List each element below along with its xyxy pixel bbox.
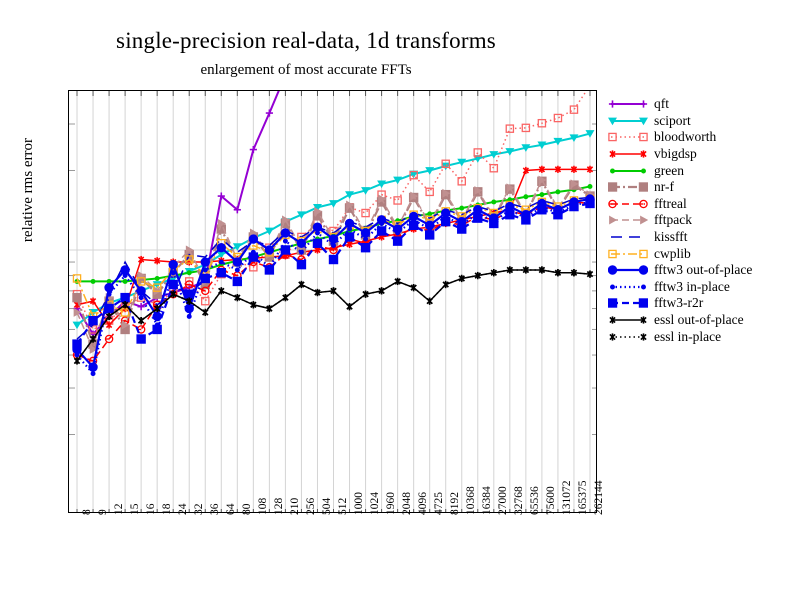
x-tick-label: 9 xyxy=(97,509,109,515)
x-tick-label: 504 xyxy=(321,498,333,515)
x-tick-label: 8 xyxy=(81,509,93,515)
data-series-layer xyxy=(69,91,597,513)
series-sciport xyxy=(73,131,593,329)
legend-swatch-icon xyxy=(608,179,648,195)
legend-label: fftpack xyxy=(654,212,692,228)
legend-item-essl-in-place[interactable]: essl in-place xyxy=(608,328,790,345)
x-tick-label: 1000 xyxy=(353,492,365,515)
legend-item-nr-f[interactable]: nr-f xyxy=(608,179,790,196)
x-tick-label: 24 xyxy=(177,504,189,516)
legend-item-green[interactable]: green xyxy=(608,162,790,179)
legend-item-qft[interactable]: qft xyxy=(608,96,790,113)
legend-label: sciport xyxy=(654,113,691,129)
series-fftw3-out-of-place xyxy=(73,195,594,372)
legend-swatch-icon xyxy=(608,279,648,295)
x-tick-label: 64 xyxy=(225,504,237,516)
legend-label: cwplib xyxy=(654,246,691,262)
legend-label: fftw3 in-place xyxy=(654,279,730,295)
x-tick-label: 2048 xyxy=(401,492,413,515)
x-tick-label: 10368 xyxy=(465,486,477,515)
legend-swatch-icon xyxy=(608,163,648,179)
legend-swatch-icon xyxy=(608,312,648,328)
x-tick-label: 16 xyxy=(145,504,157,516)
legend-swatch-icon xyxy=(608,212,648,228)
x-tick-label: 32768 xyxy=(513,486,525,515)
legend-swatch-icon xyxy=(608,229,648,245)
x-tick-label: 165375 xyxy=(577,481,589,516)
legend: qftsciportbloodworthvbigdspgreennr-ffftr… xyxy=(608,96,790,345)
x-tick-label: 36 xyxy=(209,504,221,516)
x-tick-label: 12 xyxy=(113,504,125,516)
legend-item-fftreal[interactable]: fftreal xyxy=(608,196,790,213)
x-tick-label: 131072 xyxy=(561,481,573,516)
plot-frame xyxy=(68,90,597,513)
series-fftreal xyxy=(73,198,593,364)
series-essl-in-place xyxy=(74,266,592,364)
legend-item-cwplib[interactable]: cwplib xyxy=(608,245,790,262)
x-tick-label: 18 xyxy=(161,504,173,516)
chart-subtitle: enlargement of most accurate FFTs xyxy=(0,62,612,79)
legend-item-fftpack[interactable]: fftpack xyxy=(608,212,790,229)
x-tick-label: 4725 xyxy=(433,492,445,515)
legend-label: bloodworth xyxy=(654,129,716,145)
legend-item-fftw3-r2r[interactable]: fftw3-r2r xyxy=(608,295,790,312)
y-axis-label: relative rms error xyxy=(20,80,37,300)
legend-swatch-icon xyxy=(608,96,648,112)
x-tick-label: 256 xyxy=(305,498,317,515)
x-tick-label: 27000 xyxy=(497,486,509,515)
legend-swatch-icon xyxy=(608,113,648,129)
plot-area: relative rms error 10-710-8 xyxy=(68,90,597,513)
legend-label: fftw3 out-of-place xyxy=(654,262,752,278)
x-tick-label: 32 xyxy=(193,504,205,516)
legend-swatch-icon xyxy=(608,129,648,145)
x-tick-label: 75600 xyxy=(545,486,557,515)
legend-label: qft xyxy=(654,96,669,112)
legend-label: kissfft xyxy=(654,229,688,245)
chart-title: single-precision real-data, 1d transform… xyxy=(0,28,612,54)
legend-item-bloodworth[interactable]: bloodworth xyxy=(608,129,790,146)
legend-label: essl out-of-place xyxy=(654,312,744,328)
x-tick-label: 65536 xyxy=(529,486,541,515)
x-tick-label: 8192 xyxy=(449,492,461,515)
legend-label: fftw3-r2r xyxy=(654,295,703,311)
series-essl-out-of-place xyxy=(74,266,592,364)
x-tick-label: 15 xyxy=(129,504,141,516)
x-axis-ticks: 8912151618243236648010812821025650451210… xyxy=(68,515,597,585)
x-tick-label: 1960 xyxy=(385,492,397,515)
x-tick-label: 512 xyxy=(337,498,349,515)
legend-swatch-icon xyxy=(608,246,648,262)
legend-item-fftw3-in-place[interactable]: fftw3 in-place xyxy=(608,279,790,296)
legend-label: fftreal xyxy=(654,196,687,212)
legend-swatch-icon xyxy=(608,295,648,311)
legend-label: vbigdsp xyxy=(654,146,697,162)
x-tick-label: 80 xyxy=(241,504,253,516)
legend-label: essl in-place xyxy=(654,329,721,345)
x-tick-label: 128 xyxy=(273,498,285,515)
x-tick-label: 108 xyxy=(257,498,269,515)
legend-swatch-icon xyxy=(608,329,648,345)
legend-swatch-icon xyxy=(608,262,648,278)
x-tick-label: 210 xyxy=(289,498,301,515)
x-tick-label: 16384 xyxy=(481,486,493,515)
legend-swatch-icon xyxy=(608,146,648,162)
series-fftw3-r2r xyxy=(73,199,594,348)
legend-item-essl-out-of-place[interactable]: essl out-of-place xyxy=(608,312,790,329)
x-tick-label: 4096 xyxy=(417,492,429,515)
legend-label: nr-f xyxy=(654,179,674,195)
legend-label: green xyxy=(654,163,684,179)
legend-item-vbigdsp[interactable]: vbigdsp xyxy=(608,146,790,163)
legend-swatch-icon xyxy=(608,196,648,212)
legend-item-sciport[interactable]: sciport xyxy=(608,113,790,130)
legend-item-kissfft[interactable]: kissfft xyxy=(608,229,790,246)
x-tick-label: 262144 xyxy=(593,481,605,516)
legend-item-fftw3-out-of-place[interactable]: fftw3 out-of-place xyxy=(608,262,790,279)
x-tick-label: 1024 xyxy=(369,492,381,515)
chart-page: single-precision real-data, 1d transform… xyxy=(0,0,792,612)
